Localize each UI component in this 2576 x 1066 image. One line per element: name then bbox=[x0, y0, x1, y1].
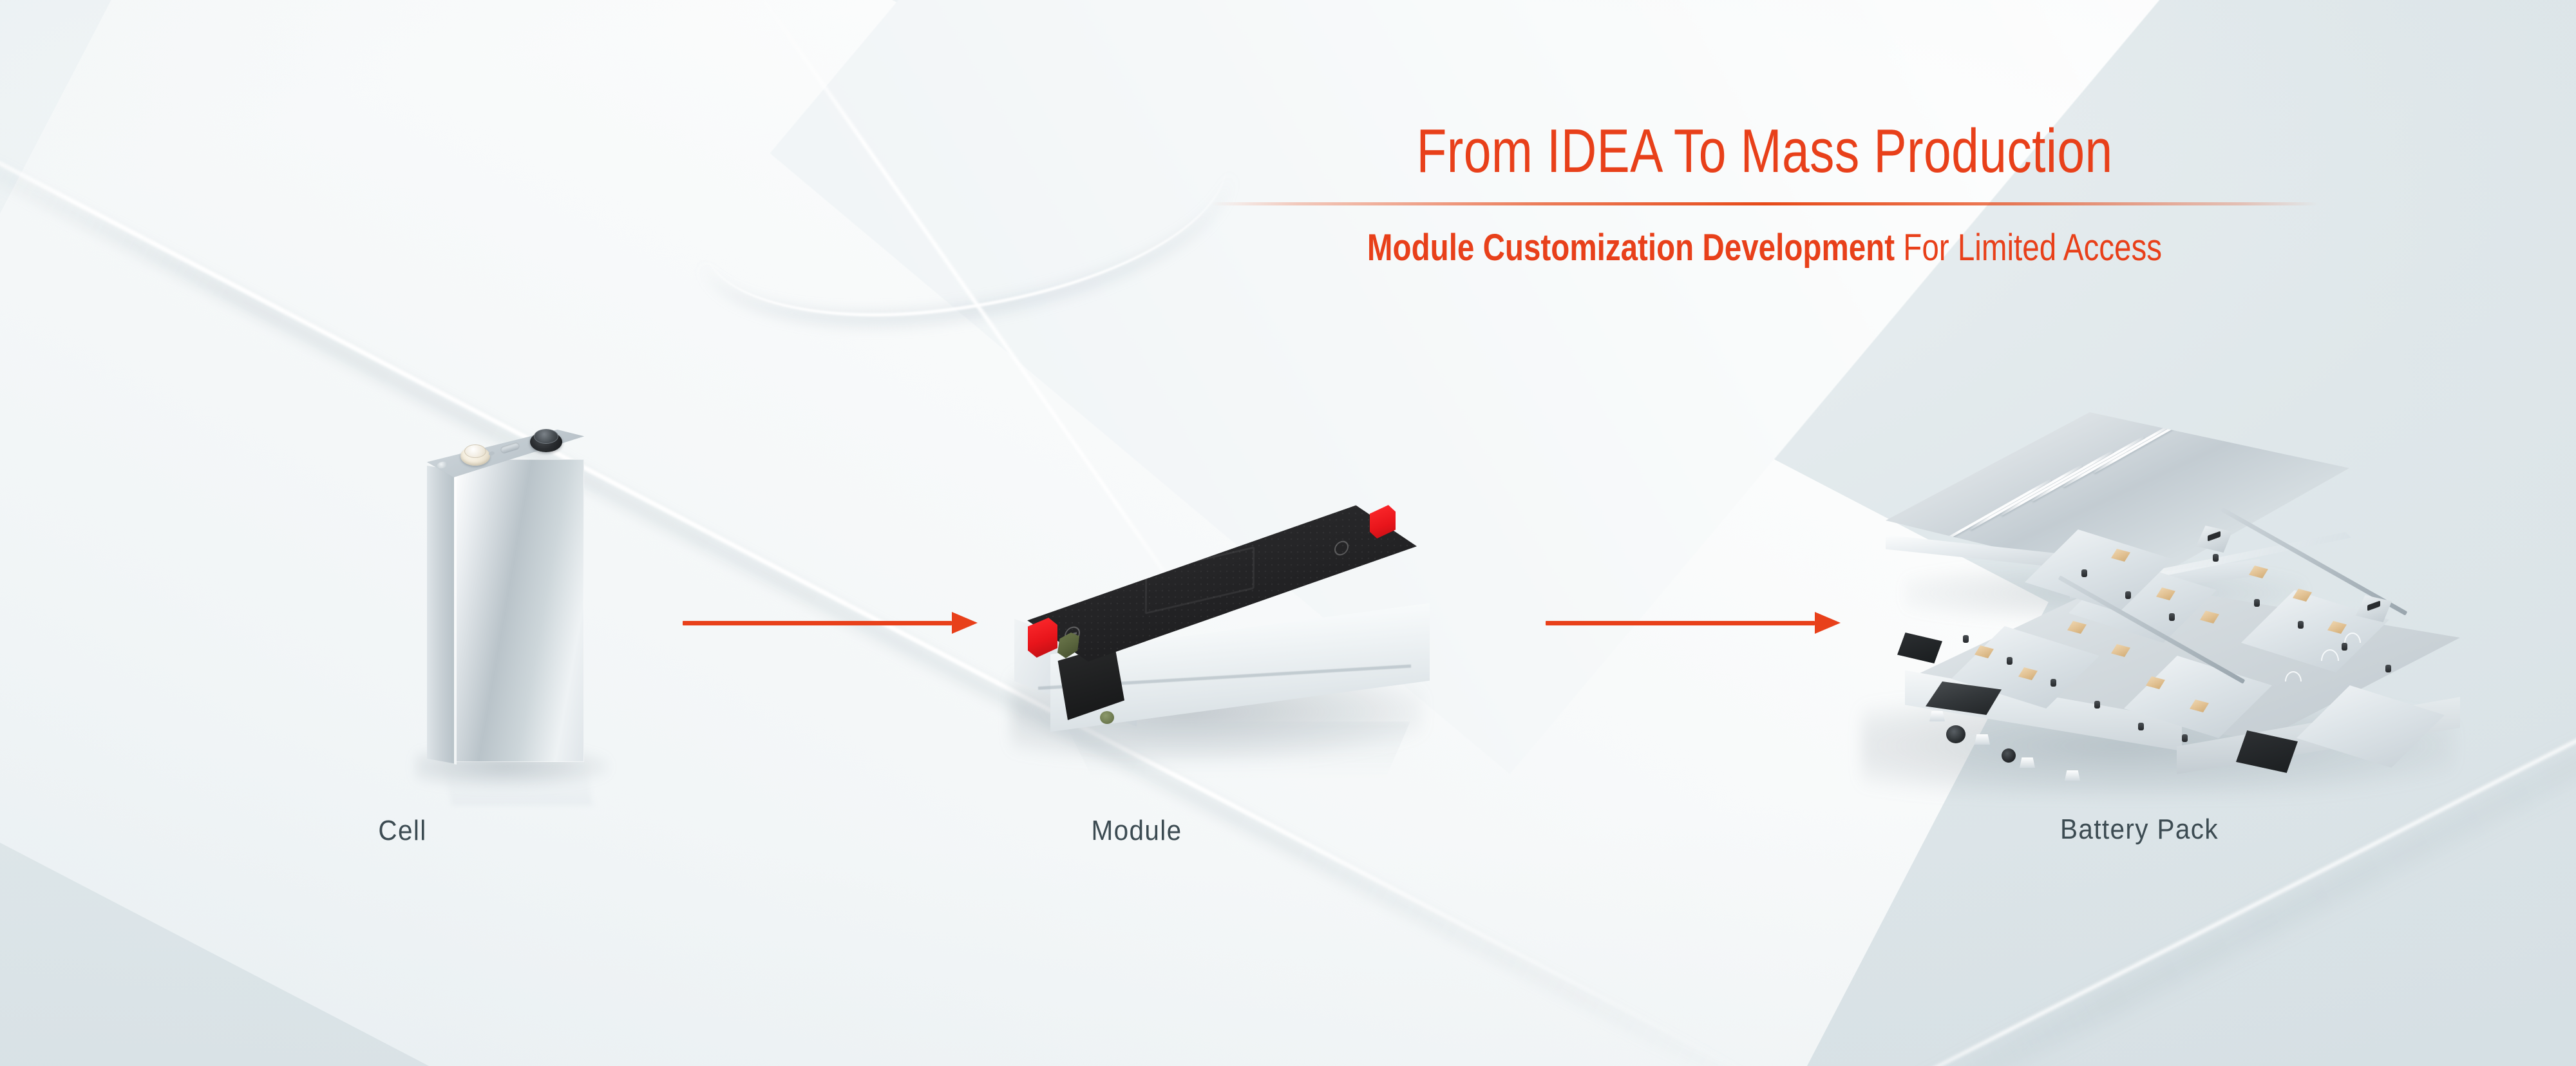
pack-mount-clip bbox=[1929, 711, 1945, 721]
pack-bolt bbox=[2169, 613, 2175, 621]
cell-front-face bbox=[455, 459, 584, 762]
pack-bolt bbox=[2213, 554, 2219, 562]
subtitle-secondary: For Limited Access bbox=[1895, 227, 2162, 269]
module-illustration bbox=[992, 451, 1455, 773]
pack-mount-clip bbox=[2065, 770, 2080, 781]
arrow-shaft bbox=[683, 621, 952, 625]
pack-bolt bbox=[2385, 665, 2391, 672]
pack-bolt bbox=[2050, 679, 2056, 687]
pack-tray bbox=[1855, 573, 2524, 786]
arrow-head bbox=[952, 612, 978, 634]
lid-rib bbox=[2093, 408, 2206, 473]
module-label: Module bbox=[959, 815, 1314, 847]
arrow-cell-to-module bbox=[683, 609, 979, 637]
lid-rib bbox=[1969, 464, 2083, 530]
lid-rib bbox=[2000, 450, 2114, 516]
pack-bolt bbox=[2081, 569, 2087, 577]
arrow-shaft bbox=[1546, 621, 1815, 625]
lid-rib bbox=[1938, 479, 2052, 544]
pack-bolt bbox=[2254, 599, 2260, 607]
cell-side-face bbox=[427, 466, 457, 764]
pack-bolt bbox=[2138, 723, 2144, 730]
pack-bolt bbox=[1963, 635, 1969, 643]
cell-edge-seam bbox=[454, 466, 457, 765]
module-connector-bolt bbox=[1100, 711, 1114, 724]
pack-mount-clip bbox=[2020, 757, 2035, 768]
arrow-module-to-pack bbox=[1546, 609, 1842, 637]
pack-hv-connector bbox=[1946, 725, 1965, 743]
pack-frame-extrusion-left bbox=[1897, 633, 1942, 663]
cell-illustration bbox=[422, 428, 609, 779]
header: From IDEA To Mass Production Module Cust… bbox=[1211, 119, 2318, 269]
background-curve-shadow bbox=[689, 79, 1243, 347]
header-divider bbox=[1211, 202, 2318, 205]
pack-bolt bbox=[2125, 591, 2131, 599]
pack-signal-connector bbox=[2002, 748, 2016, 763]
subtitle-emphasis: Module Customization Development bbox=[1367, 227, 1895, 269]
battery-pack-illustration bbox=[1855, 412, 2524, 786]
page-title: From IDEA To Mass Production bbox=[1321, 119, 2208, 184]
pack-bolt bbox=[2182, 734, 2188, 742]
pack-bolt bbox=[2094, 701, 2100, 709]
lid-rib bbox=[2031, 436, 2145, 502]
background-curve-highlight bbox=[692, 70, 1240, 336]
lid-rib bbox=[2062, 422, 2175, 488]
cell-negative-terminal-cap bbox=[464, 444, 486, 458]
pack-bolt bbox=[2298, 621, 2304, 629]
module-reflection bbox=[1050, 721, 1410, 779]
pack-mount-clip bbox=[1975, 734, 1990, 745]
promo-banner: From IDEA To Mass Production Module Cust… bbox=[0, 0, 2576, 1066]
battery-pack-label: Battery Pack bbox=[1962, 814, 2317, 846]
pack-bolt bbox=[2007, 657, 2012, 665]
cell-positive-terminal-cap bbox=[534, 429, 558, 444]
cell-label: Cell bbox=[225, 815, 580, 847]
pack-bolt bbox=[2342, 643, 2347, 651]
arrow-head bbox=[1815, 612, 1841, 634]
page-subtitle: Module Customization Development For Lim… bbox=[1311, 227, 2219, 269]
cell-reflection bbox=[444, 761, 592, 806]
